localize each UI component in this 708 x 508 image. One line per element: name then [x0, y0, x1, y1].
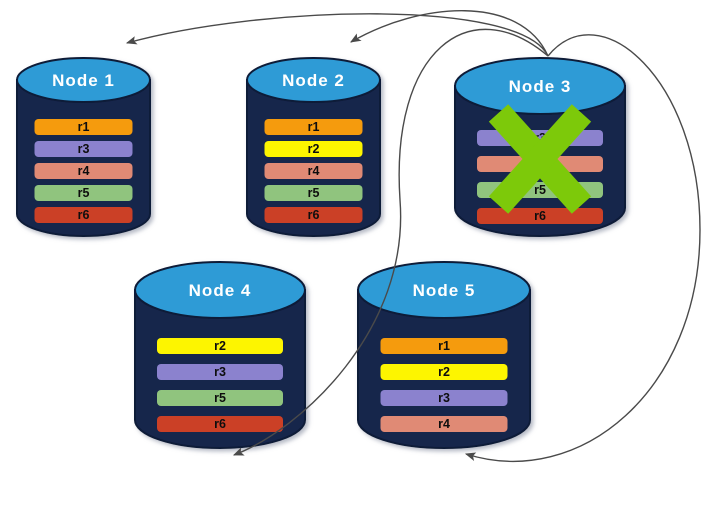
- nodes-layer: Node 1r1r3r4r5r6Node 2r1r2r4r5r6Node 3r3…: [17, 58, 625, 448]
- node-title: Node 4: [189, 281, 252, 300]
- node-title: Node 1: [52, 71, 115, 90]
- record-label-r6: r6: [214, 417, 226, 431]
- node-title: Node 5: [413, 281, 476, 300]
- node-title: Node 2: [282, 71, 345, 90]
- database-node-4[interactable]: Node 4r2r3r5r6: [135, 262, 305, 448]
- record-label-r6: r6: [534, 209, 546, 223]
- arrow-node3-to-node1: [127, 14, 548, 56]
- record-label-r4: r4: [438, 417, 450, 431]
- record-label-r4: r4: [308, 164, 320, 178]
- diagram-canvas: Node 1r1r3r4r5r6Node 2r1r2r4r5r6Node 3r3…: [0, 0, 708, 508]
- record-label-r3: r3: [438, 391, 450, 405]
- node-title: Node 3: [509, 77, 572, 96]
- record-label-r5: r5: [214, 391, 226, 405]
- record-label-r4: r4: [78, 164, 90, 178]
- record-label-r5: r5: [534, 183, 546, 197]
- database-node-5[interactable]: Node 5r1r2r3r4: [358, 262, 530, 448]
- record-label-r2: r2: [438, 365, 450, 379]
- record-label-r1: r1: [78, 120, 90, 134]
- database-node-2[interactable]: Node 2r1r2r4r5r6: [247, 58, 380, 236]
- record-label-r1: r1: [308, 120, 320, 134]
- record-label-r5: r5: [308, 186, 320, 200]
- record-label-r3: r3: [78, 142, 90, 156]
- record-label-r6: r6: [308, 208, 320, 222]
- record-label-r5: r5: [78, 186, 90, 200]
- record-label-r1: r1: [438, 339, 450, 353]
- database-node-1[interactable]: Node 1r1r3r4r5r6: [17, 58, 150, 236]
- record-label-r2: r2: [214, 339, 226, 353]
- record-label-r6: r6: [78, 208, 90, 222]
- record-label-r2: r2: [308, 142, 320, 156]
- record-label-r3: r3: [214, 365, 226, 379]
